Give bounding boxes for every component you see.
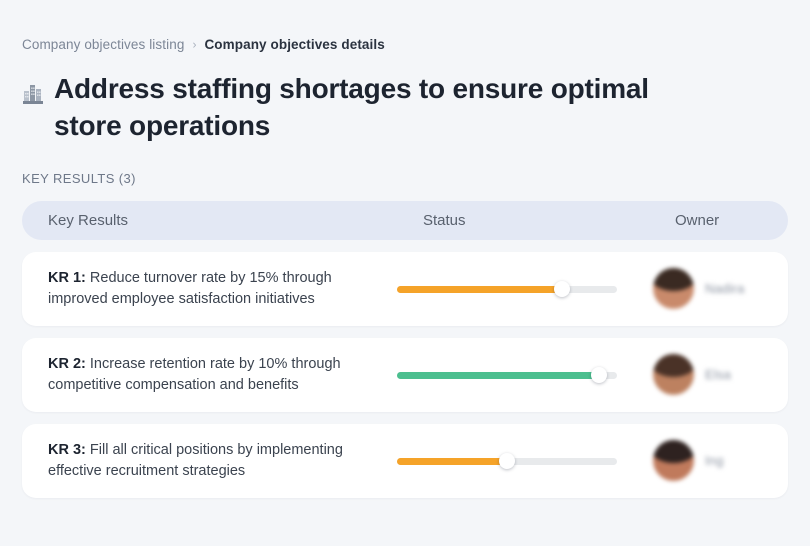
progress-knob[interactable] bbox=[554, 281, 570, 297]
progress-slider[interactable] bbox=[397, 280, 617, 298]
key-result-prefix: KR 2: bbox=[48, 356, 86, 372]
avatar[interactable] bbox=[653, 268, 694, 309]
table-row[interactable]: KR 3: Fill all critical positions by imp… bbox=[22, 424, 788, 498]
owner-cell: Elsa bbox=[653, 354, 788, 395]
objective-details-page: Company objectives listing › Company obj… bbox=[0, 0, 810, 546]
key-result-text: KR 2: Increase retention rate by 10% thr… bbox=[22, 354, 397, 397]
key-result-text: KR 1: Reduce turnover rate by 15% throug… bbox=[22, 268, 397, 311]
breadcrumb-parent-link[interactable]: Company objectives listing bbox=[22, 38, 184, 52]
column-header-owner: Owner bbox=[653, 212, 788, 229]
table-header-row: Key Results Status Owner bbox=[22, 201, 788, 240]
page-title: Address staffing shortages to ensure opt… bbox=[54, 70, 672, 144]
key-result-prefix: KR 1: bbox=[48, 270, 86, 286]
status-cell bbox=[397, 280, 653, 298]
progress-slider[interactable] bbox=[397, 452, 617, 470]
chevron-right-icon: › bbox=[192, 38, 196, 50]
table-row[interactable]: KR 2: Increase retention rate by 10% thr… bbox=[22, 338, 788, 412]
avatar[interactable] bbox=[653, 354, 694, 395]
key-result-prefix: KR 3: bbox=[48, 442, 86, 458]
progress-fill bbox=[397, 286, 562, 293]
table-body: KR 1: Reduce turnover rate by 15% throug… bbox=[22, 252, 788, 498]
page-header: Address staffing shortages to ensure opt… bbox=[22, 70, 672, 144]
key-result-description: Reduce turnover rate by 15% through impr… bbox=[48, 270, 332, 307]
status-cell bbox=[397, 366, 653, 384]
key-result-description: Fill all critical positions by implement… bbox=[48, 442, 343, 479]
progress-knob[interactable] bbox=[499, 453, 515, 469]
breadcrumb: Company objectives listing › Company obj… bbox=[22, 0, 788, 52]
owner-cell: Ing bbox=[653, 440, 788, 481]
key-results-table: Key Results Status Owner KR 1: Reduce tu… bbox=[22, 201, 788, 498]
key-results-section-label: KEY RESULTS (3) bbox=[22, 171, 788, 186]
breadcrumb-current: Company objectives details bbox=[204, 38, 384, 52]
owner-name: Nadira bbox=[705, 281, 745, 296]
owner-name: Ing bbox=[705, 453, 724, 468]
owner-name: Elsa bbox=[705, 367, 731, 382]
progress-fill bbox=[397, 458, 507, 465]
owner-cell: Nadira bbox=[653, 268, 788, 309]
status-cell bbox=[397, 452, 653, 470]
column-header-status: Status bbox=[397, 212, 653, 229]
key-result-description: Increase retention rate by 10% through c… bbox=[48, 356, 341, 393]
column-header-key-results: Key Results bbox=[22, 212, 397, 229]
office-buildings-icon bbox=[22, 81, 44, 107]
progress-slider[interactable] bbox=[397, 366, 617, 384]
progress-fill bbox=[397, 372, 599, 379]
avatar[interactable] bbox=[653, 440, 694, 481]
table-row[interactable]: KR 1: Reduce turnover rate by 15% throug… bbox=[22, 252, 788, 326]
key-result-text: KR 3: Fill all critical positions by imp… bbox=[22, 440, 397, 483]
progress-knob[interactable] bbox=[591, 367, 607, 383]
